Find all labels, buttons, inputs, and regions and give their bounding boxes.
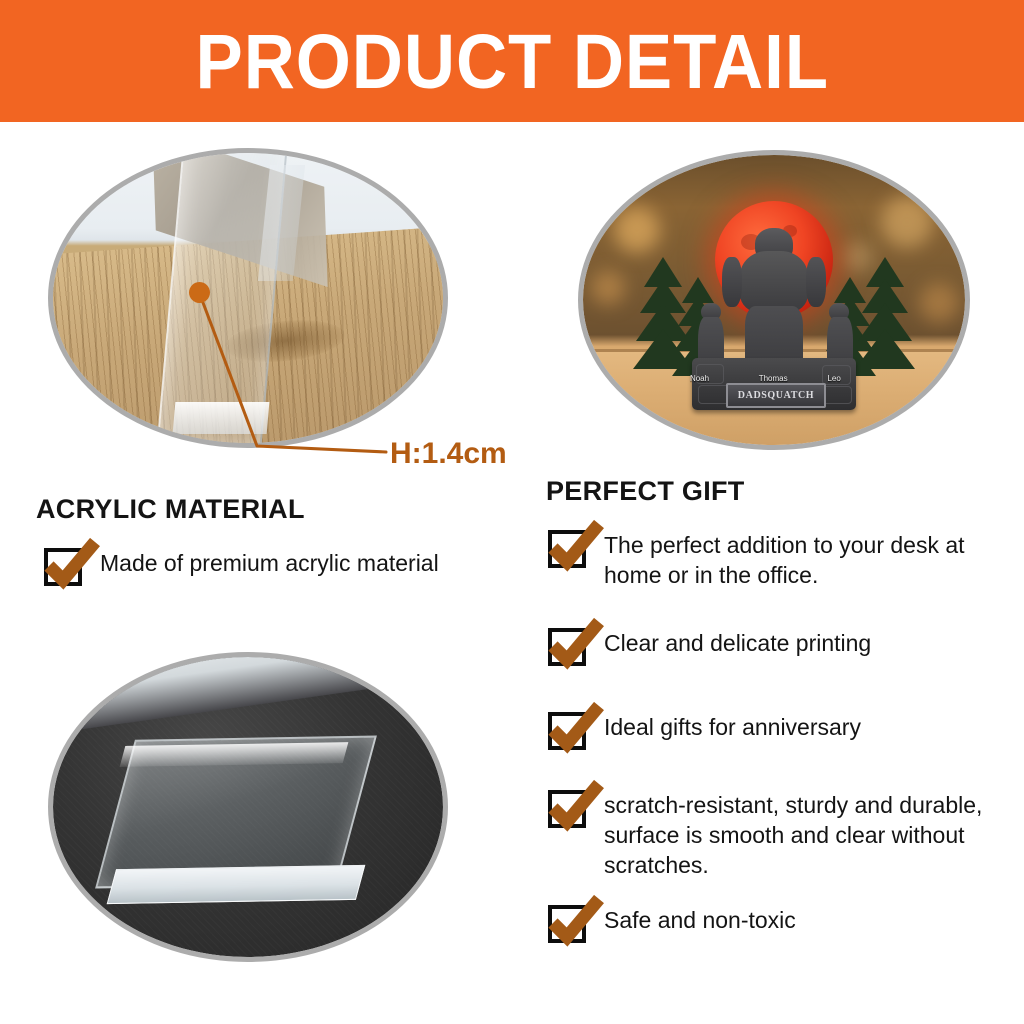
checkmark-icon: [547, 778, 605, 836]
bokeh-light: [881, 196, 933, 248]
photo-frame-inner: [53, 153, 443, 443]
checkbox-checked[interactable]: [548, 530, 586, 568]
bokeh-light: [591, 271, 625, 305]
checkbox-checked[interactable]: [548, 712, 586, 750]
bigfoot-figure-torso: [740, 251, 808, 313]
page-title: PRODUCT DETAIL: [195, 24, 828, 101]
engraved-name-left: Noah: [690, 374, 709, 383]
checklist-item-gift-1: Clear and delicate printing: [548, 628, 998, 666]
acrylic-block-highlight: [120, 742, 349, 767]
photo-dadsquatch-figurine: DADSQUATCH Noah Thomas Leo: [578, 150, 970, 450]
bokeh-light: [919, 283, 959, 323]
bokeh-light: [614, 207, 660, 253]
section-heading-perfect-gift: PERFECT GIFT: [546, 476, 745, 507]
checklist-item-gift-4: Safe and non-toxic: [548, 905, 998, 943]
checklist-item-label: Made of premium acrylic material: [100, 548, 439, 578]
section-heading-acrylic-material: ACRYLIC MATERIAL: [36, 494, 305, 525]
checkmark-icon: [547, 700, 605, 758]
figurine-stone-base: DADSQUATCH: [692, 358, 856, 410]
checkmark-icon: [547, 616, 605, 674]
bigfoot-figure-arm-left: [722, 257, 742, 307]
photo-acrylic-block-on-slate: [48, 652, 448, 962]
dimension-anchor-dot: [189, 282, 210, 303]
plaque-text: DADSQUATCH: [738, 390, 814, 401]
photo-acrylic-edge-on-wood: [48, 148, 448, 448]
dimension-label-height: H:1.4cm: [390, 437, 507, 471]
engraved-name-center: Thomas: [759, 374, 788, 383]
checklist-item-gift-0: The perfect addition to your desk at hom…: [548, 530, 998, 590]
checkmark-icon: [43, 536, 101, 594]
checklist-item-label: Safe and non-toxic: [604, 905, 796, 935]
checklist-item-label: Clear and delicate printing: [604, 628, 871, 658]
product-detail-page: PRODUCT DETAIL H:1.4cm: [0, 0, 1024, 1024]
page-header-banner: PRODUCT DETAIL: [0, 0, 1024, 122]
checkbox-checked[interactable]: [44, 548, 82, 586]
checkmark-icon: [547, 518, 605, 576]
photo-frame-inner: [53, 657, 443, 957]
bigfoot-figure-arm-right: [806, 257, 826, 307]
checkbox-checked[interactable]: [548, 790, 586, 828]
acrylic-bottom-bevel: [172, 402, 268, 434]
checkmark-icon: [547, 893, 605, 951]
name-plaque: DADSQUATCH: [726, 383, 826, 408]
photo-frame-inner: DADSQUATCH Noah Thomas Leo: [583, 155, 965, 445]
checklist-item-label: scratch-resistant, sturdy and durable, s…: [604, 790, 1003, 880]
checkbox-checked[interactable]: [548, 905, 586, 943]
acrylic-block-front-edge: [106, 865, 364, 904]
checkbox-checked[interactable]: [548, 628, 586, 666]
checklist-item-acrylic-0: Made of premium acrylic material: [44, 548, 514, 586]
checklist-item-gift-2: Ideal gifts for anniversary: [548, 712, 998, 750]
checklist-item-label: The perfect addition to your desk at hom…: [604, 530, 998, 590]
engraved-name-right: Leo: [827, 374, 840, 383]
checklist-item-label: Ideal gifts for anniversary: [604, 712, 861, 742]
checklist-item-gift-3: scratch-resistant, sturdy and durable, s…: [548, 790, 1003, 880]
